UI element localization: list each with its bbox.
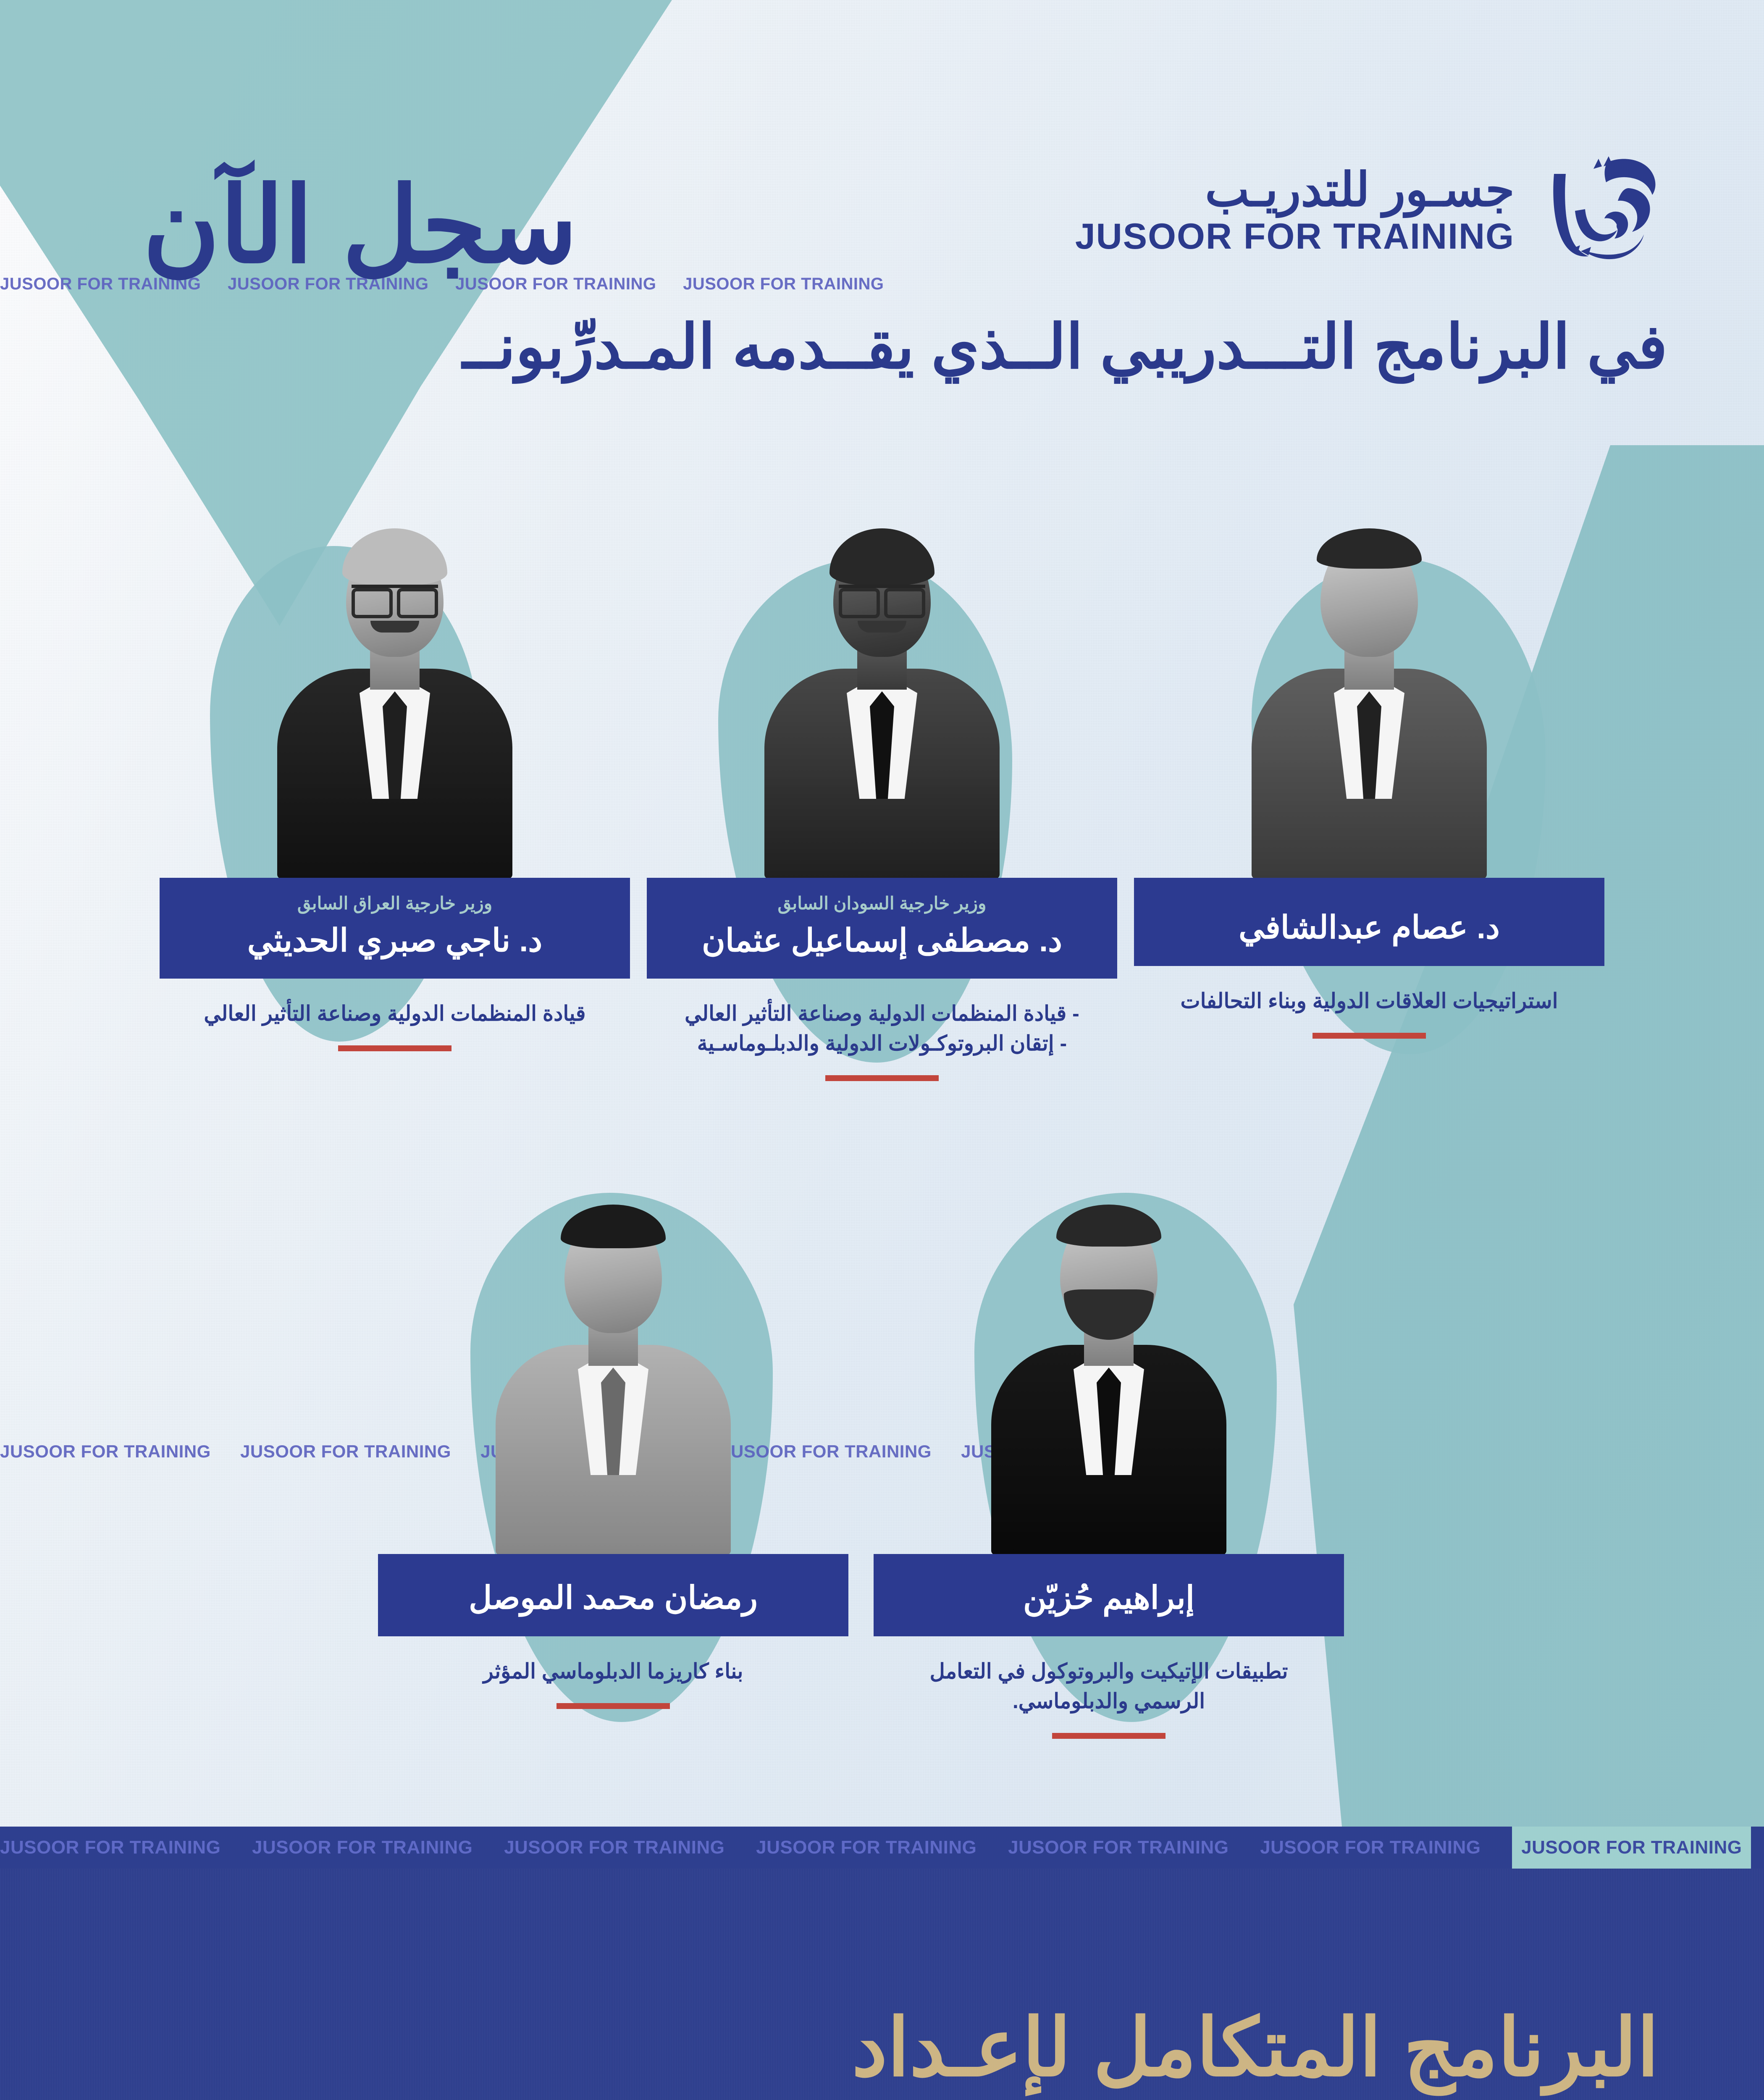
brand-logo: جسـور للتدريـب JUSOOR FOR TRAINING (1075, 148, 1668, 274)
portrait-mustafa-ismail-othman (764, 508, 1000, 878)
watermark-text-highlighted: JUSOOR FOR TRAINING (1512, 1827, 1751, 1869)
speaker-card-2: وزير خارجية السودان السابق د. مصطفى إسما… (647, 483, 1117, 1081)
watermark-text: JUSOOR FOR TRAINING (0, 1441, 235, 1462)
speaker-nameplate-3: د. عصام عبدالشافي (1134, 878, 1604, 966)
portrait-essam-abdelshafi (1252, 508, 1487, 878)
speaker-name: د. عصام عبدالشافي (1151, 909, 1588, 947)
speaker-card-4: رمضان محمد الموصل بناء كاريزما الدبلوماس… (378, 1134, 848, 1709)
speaker-topic-2: - قيادة المنظمات الدولية وصناعة التأثير … (647, 999, 1117, 1058)
poster-root: JUSOOR FOR TRAINING JUSOOR FOR TRAINING … (0, 0, 1764, 2100)
speaker-topic-4: بناء كاريزما الدبلوماسي المؤثر (378, 1656, 848, 1686)
topic-line: - إتقان البروتوكـولات الدولية والدبلـوما… (654, 1029, 1110, 1058)
speaker-topic-5: تطبيقات الإتيكيت والبروتوكول في التعامل … (874, 1656, 1344, 1716)
speaker-nameplate-1: وزير خارجية العراق السابق د. ناجي صبري ا… (160, 878, 630, 979)
speaker-subtitle: وزير خارجية العراق السابق (176, 892, 613, 915)
brand-wordmark: جسـور للتدريـب JUSOOR FOR TRAINING (1075, 165, 1515, 257)
topic-line: بناء كاريزما الدبلوماسي المؤثر (386, 1656, 841, 1686)
speaker-name: د. مصطفى إسماعيل عثمان (664, 922, 1100, 960)
topic-underline (1052, 1733, 1165, 1739)
topic-line: قيادة المنظمات الدولية وصناعة التأثير ال… (167, 999, 622, 1029)
speaker-name: رمضان محمد الموصل (395, 1579, 832, 1617)
topic-underline (338, 1045, 451, 1051)
program-title: البرنامج المتكامل لإعـداد نخبة القيادات … (105, 1995, 1659, 2100)
watermark-text: JUSOOR FOR TRAINING (504, 1827, 751, 1869)
watermark-text: JUSOOR FOR TRAINING (0, 1827, 247, 1869)
register-now-heading: سجل الآن (143, 173, 577, 278)
program-title-line-1: البرنامج المتكامل لإعـداد (852, 2003, 1659, 2092)
watermark-text: JUSOOR FOR TRAINING (1260, 1827, 1507, 1869)
topic-line: استراتيجيات العلاقات الدولية وبناء التحا… (1142, 986, 1597, 1016)
speaker-card-5: إبراهيم حُزيّن تطبيقات الإتيكيت والبروتو… (874, 1134, 1344, 1739)
watermark-text: JUSOOR FOR TRAINING (1008, 1827, 1255, 1869)
speaker-subtitle: وزير خارجية السودان السابق (664, 892, 1100, 915)
speaker-photo-2 (647, 483, 1117, 878)
speaker-nameplate-4: رمضان محمد الموصل (378, 1554, 848, 1636)
topic-underline (1312, 1033, 1426, 1039)
speaker-nameplate-5: إبراهيم حُزيّن (874, 1554, 1344, 1636)
topic-line: - قيادة المنظمات الدولية وصناعة التأثير … (654, 999, 1110, 1029)
topic-line: تطبيقات الإتيكيت والبروتوكول في التعامل (881, 1656, 1336, 1686)
watermark-band: JUSOOR FOR TRAINING JUSOOR FOR TRAINING … (0, 1827, 1764, 1869)
watermark-text: JUSOOR FOR TRAINING (683, 275, 906, 294)
speaker-card-1: وزير خارجية العراق السابق د. ناجي صبري ا… (160, 483, 630, 1051)
speaker-card-3: د. عصام عبدالشافي استراتيجيات العلاقات ا… (1134, 483, 1604, 1039)
speaker-topic-3: استراتيجيات العلاقات الدولية وبناء التحا… (1134, 986, 1604, 1016)
watermark-text: JUSOOR FOR TRAINING (252, 1827, 499, 1869)
speaker-topic-1: قيادة المنظمات الدولية وصناعة التأثير ال… (160, 999, 630, 1029)
speaker-photo-5 (874, 1134, 1344, 1554)
brand-name-english: JUSOOR FOR TRAINING (1075, 216, 1515, 257)
topic-underline (556, 1703, 670, 1709)
watermark-text: JUSOOR FOR TRAINING (756, 1827, 1003, 1869)
jusoor-calligraphy-logo-icon (1530, 148, 1668, 274)
speaker-photo-4 (378, 1134, 848, 1554)
topic-line: الرسمي والدبلوماسي. (881, 1686, 1336, 1716)
bottom-panel: البرنامج المتكامل لإعـداد نخبة القيادات … (0, 1869, 1764, 2100)
speaker-nameplate-2: وزير خارجية السودان السابق د. مصطفى إسما… (647, 878, 1117, 979)
portrait-ibrahim-huzayyin (991, 1184, 1226, 1554)
speaker-photo-1 (160, 483, 630, 878)
portrait-naji-sabri-alhadithi (277, 508, 512, 878)
page-headline: في البرنامج التـــدريبي الــذي يقــدمه ا… (46, 311, 1667, 383)
topic-underline (825, 1075, 939, 1081)
speaker-name: إبراهيم حُزيّن (890, 1579, 1327, 1617)
brand-name-arabic: جسـور للتدريـب (1075, 165, 1515, 215)
speaker-name: د. ناجي صبري الحديثي (176, 922, 613, 960)
portrait-ramadan-mohamed-almawsil (496, 1184, 731, 1554)
speaker-photo-3 (1134, 483, 1604, 878)
